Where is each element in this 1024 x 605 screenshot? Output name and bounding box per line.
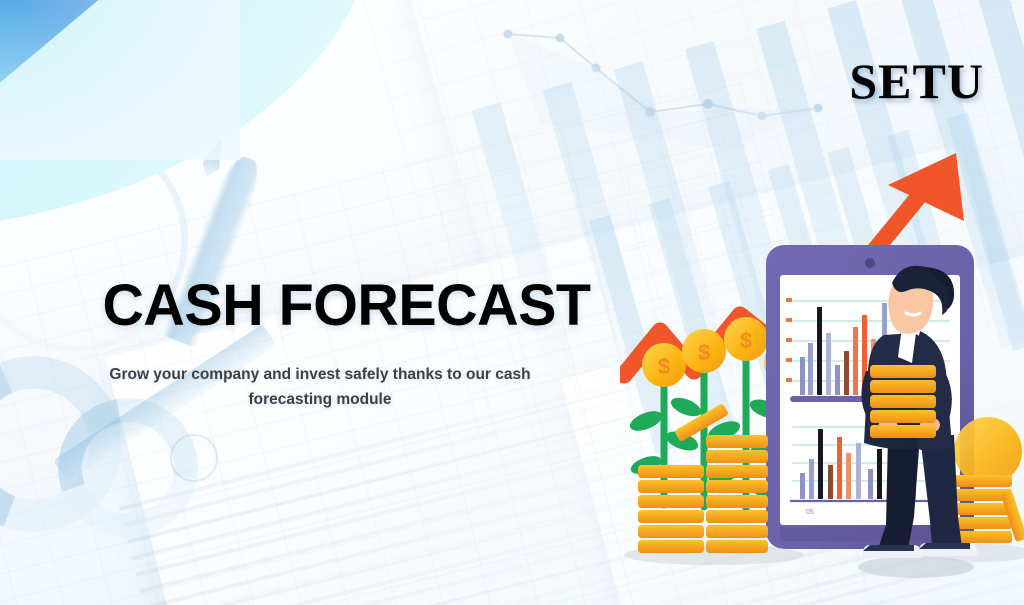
svg-text:$: $ bbox=[658, 354, 670, 379]
background-ring-icon bbox=[170, 434, 218, 482]
page-subtitle: Grow your company and invest safely than… bbox=[90, 362, 550, 412]
cash-forecast-illustration: $ $ $ $ bbox=[620, 135, 1024, 605]
page-title: CASH FORECAST bbox=[102, 272, 590, 339]
background-line-chart bbox=[500, 4, 840, 154]
axis-label: 05 bbox=[806, 509, 814, 516]
background-pen-nib bbox=[198, 134, 230, 180]
brand-logo: SETU bbox=[849, 52, 984, 110]
corner-swoosh-blue bbox=[0, 0, 208, 121]
slide-canvas: SETU CASH FORECAST Grow your company and… bbox=[0, 0, 1024, 605]
svg-text:$: $ bbox=[698, 340, 710, 365]
svg-text:$: $ bbox=[740, 328, 752, 353]
background-donut-chart bbox=[58, 398, 198, 538]
corner-swoosh-fade bbox=[0, 0, 240, 160]
corner-swoosh-cyan bbox=[0, 0, 408, 229]
